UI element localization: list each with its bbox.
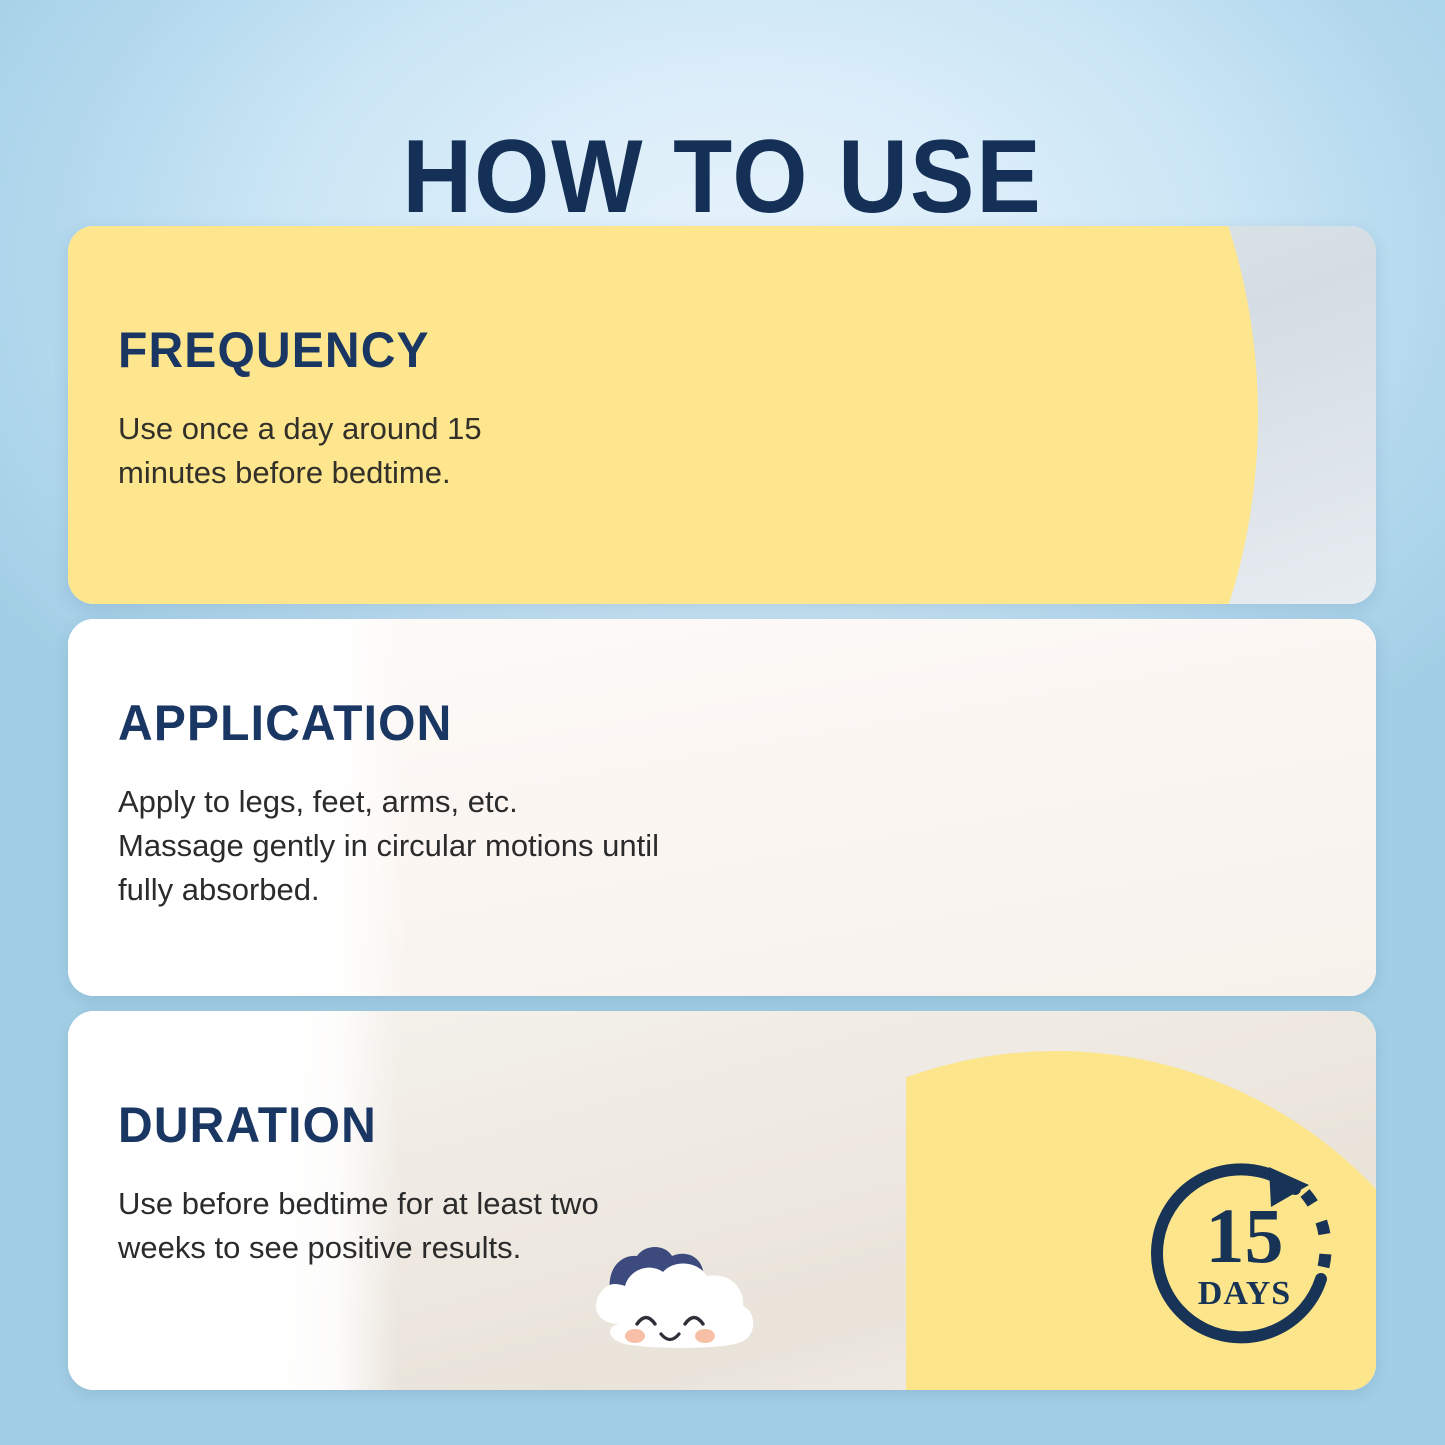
card-application-body-line-1: Apply to legs, feet, arms, etc. <box>118 784 518 819</box>
card-application-text: APPLICATION Apply to legs, feet, arms, e… <box>118 697 738 912</box>
infographic-page: HOW TO USE FREQUENCY Use once a day arou… <box>0 0 1445 1445</box>
card-frequency-body: Use once a day around 15 minutes before … <box>118 407 538 495</box>
card-frequency: FREQUENCY Use once a day around 15 minut… <box>68 226 1376 604</box>
page-title: HOW TO USE <box>51 118 1395 238</box>
card-duration-heading: DURATION <box>118 1099 656 1152</box>
card-frequency-body-line-1: Use once a day around 15 <box>118 411 482 446</box>
badge-unit: DAYS <box>1145 1277 1344 1311</box>
card-application-body-line-2: Massage gently in circular motions until <box>118 828 659 863</box>
card-duration-body-line-1: Use before bedtime for at least two <box>118 1186 599 1221</box>
card-application-body-line-3: fully absorbed. <box>118 872 320 907</box>
card-application-body: Apply to legs, feet, arms, etc. Massage … <box>118 780 738 912</box>
card-duration-body-line-2: weeks to see positive results. <box>118 1230 521 1265</box>
card-frequency-body-line-2: minutes before bedtime. <box>118 455 451 490</box>
card-frequency-heading: FREQUENCY <box>118 324 521 377</box>
card-application-heading: APPLICATION <box>118 697 713 750</box>
card-frequency-text: FREQUENCY Use once a day around 15 minut… <box>118 324 538 495</box>
sleeping-cloud-icon <box>575 1238 765 1383</box>
fifteen-days-badge: 15 DAYS <box>1145 1155 1350 1360</box>
badge-number: 15 <box>1145 1197 1344 1275</box>
card-application: APPLICATION Apply to legs, feet, arms, e… <box>68 619 1376 996</box>
